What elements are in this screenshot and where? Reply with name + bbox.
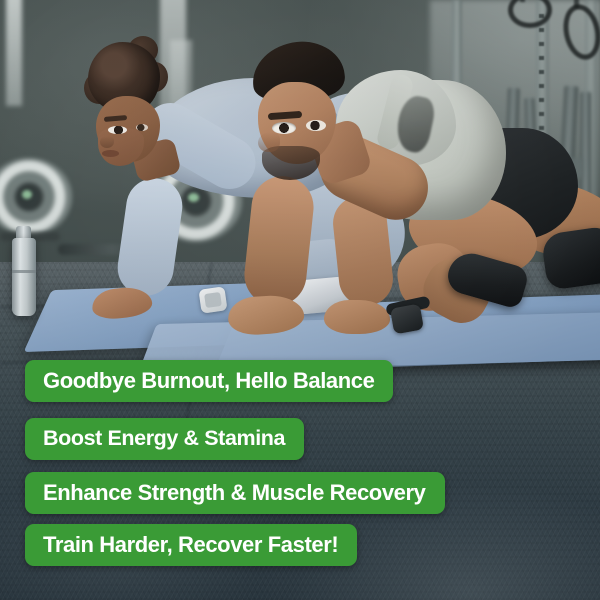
weight-plate-marker: [22, 190, 32, 199]
man-smartwatch: [390, 304, 424, 335]
man-eye: [306, 120, 326, 131]
woman-smartwatch-face: [204, 292, 222, 308]
man-nose: [258, 132, 280, 152]
man-right-hand: [324, 300, 390, 334]
benefit-badge-energy[interactable]: Boost Energy & Stamina: [25, 418, 304, 460]
woman-lips: [102, 150, 119, 157]
woman-nose: [100, 136, 114, 148]
benefit-badge-strength[interactable]: Enhance Strength & Muscle Recovery: [25, 472, 445, 514]
benefit-badge-balance[interactable]: Goodbye Burnout, Hello Balance: [25, 360, 393, 402]
water-bottle-band: [12, 270, 36, 273]
woman-eye: [136, 124, 148, 131]
woman-eye: [108, 126, 127, 134]
promo-image-canvas: Goodbye Burnout, Hello Balance Boost Ene…: [0, 0, 600, 600]
benefit-badge-train[interactable]: Train Harder, Recover Faster!: [25, 524, 357, 566]
window-light-panel: [6, 0, 22, 106]
weight-plate-marker: [188, 193, 199, 202]
water-bottle: [12, 238, 36, 316]
